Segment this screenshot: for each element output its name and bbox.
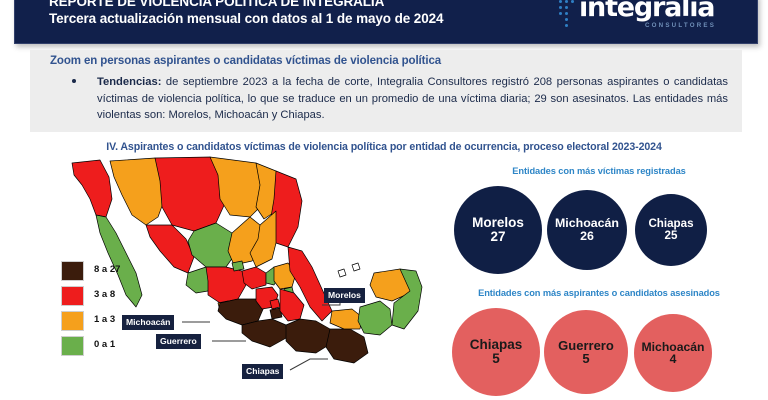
- page-subtitle: Tercera actualización mensual con datos …: [49, 11, 443, 26]
- panel-title-killed: Entidades con más aspirantes o candidato…: [430, 288, 768, 298]
- integralia-logo: integralia CONSULTORES: [559, 0, 729, 36]
- bubble-group-victims: Morelos 27 Michoacán 26 Chiapas 25: [430, 186, 768, 278]
- bubble-value: 26: [580, 230, 594, 243]
- report-slide: REPORTE DE VIOLENCIA POLÍTICA DE INTEGRA…: [0, 0, 768, 400]
- panel-title-victims: Entidades con más víctimas registradas: [430, 166, 768, 176]
- figure-title: IV. Aspirantes o candidatos víctimas de …: [0, 141, 768, 153]
- bubble-value: 4: [670, 353, 677, 365]
- bullet-icon: [72, 79, 76, 83]
- trend-paragraph: Tendencias: de septiembre 2023 a la fech…: [97, 74, 728, 124]
- bubble-value: 5: [492, 352, 500, 366]
- page-title: REPORTE DE VIOLENCIA POLÍTICA DE INTEGRA…: [49, 0, 384, 9]
- zoom-section: Zoom en personas aspirantes o candidatas…: [30, 50, 742, 132]
- bubble-label: Chiapas: [470, 338, 523, 352]
- dot-matrix-icon: [559, 0, 577, 30]
- mexico-choropleth-map: 8 a 27 3 a 8 1 a 3 0 a 1 Morelos Michoac…: [60, 155, 430, 400]
- logo-tagline: CONSULTORES: [645, 22, 716, 29]
- bubble-chiapas-killed: Chiapas 5: [452, 308, 540, 396]
- bubble-value: 5: [582, 352, 589, 365]
- bubble-chiapas: Chiapas 25: [635, 194, 707, 266]
- bubble-guerrero-killed: Guerrero 5: [544, 310, 628, 394]
- bubble-group-killed: Chiapas 5 Guerrero 5 Michoacán 4: [430, 308, 768, 400]
- bubble-label: Guerrero: [558, 339, 614, 352]
- trend-body: de septiembre 2023 a la fecha de corte, …: [97, 76, 728, 121]
- header-band: REPORTE DE VIOLENCIA POLÍTICA DE INTEGRA…: [14, 0, 758, 44]
- bubble-michoacan: Michoacán 26: [547, 190, 627, 270]
- bubble-value: 25: [665, 230, 678, 242]
- map-label-guerrero: Guerrero: [156, 334, 201, 349]
- bubble-value: 27: [490, 230, 505, 244]
- map-label-michoacan: Michoacán: [122, 315, 174, 330]
- map-label-morelos: Morelos: [324, 288, 365, 303]
- logo-wordmark: integralia: [579, 0, 714, 23]
- bubble-michoacan-killed: Michoacán 4: [634, 314, 712, 392]
- bubble-morelos: Morelos 27: [454, 186, 542, 274]
- bubble-label: Morelos: [472, 216, 524, 230]
- map-label-chiapas: Chiapas: [242, 364, 283, 379]
- zoom-section-heading: Zoom en personas aspirantes o candidatas…: [50, 55, 441, 67]
- trend-lead: Tendencias:: [97, 76, 161, 88]
